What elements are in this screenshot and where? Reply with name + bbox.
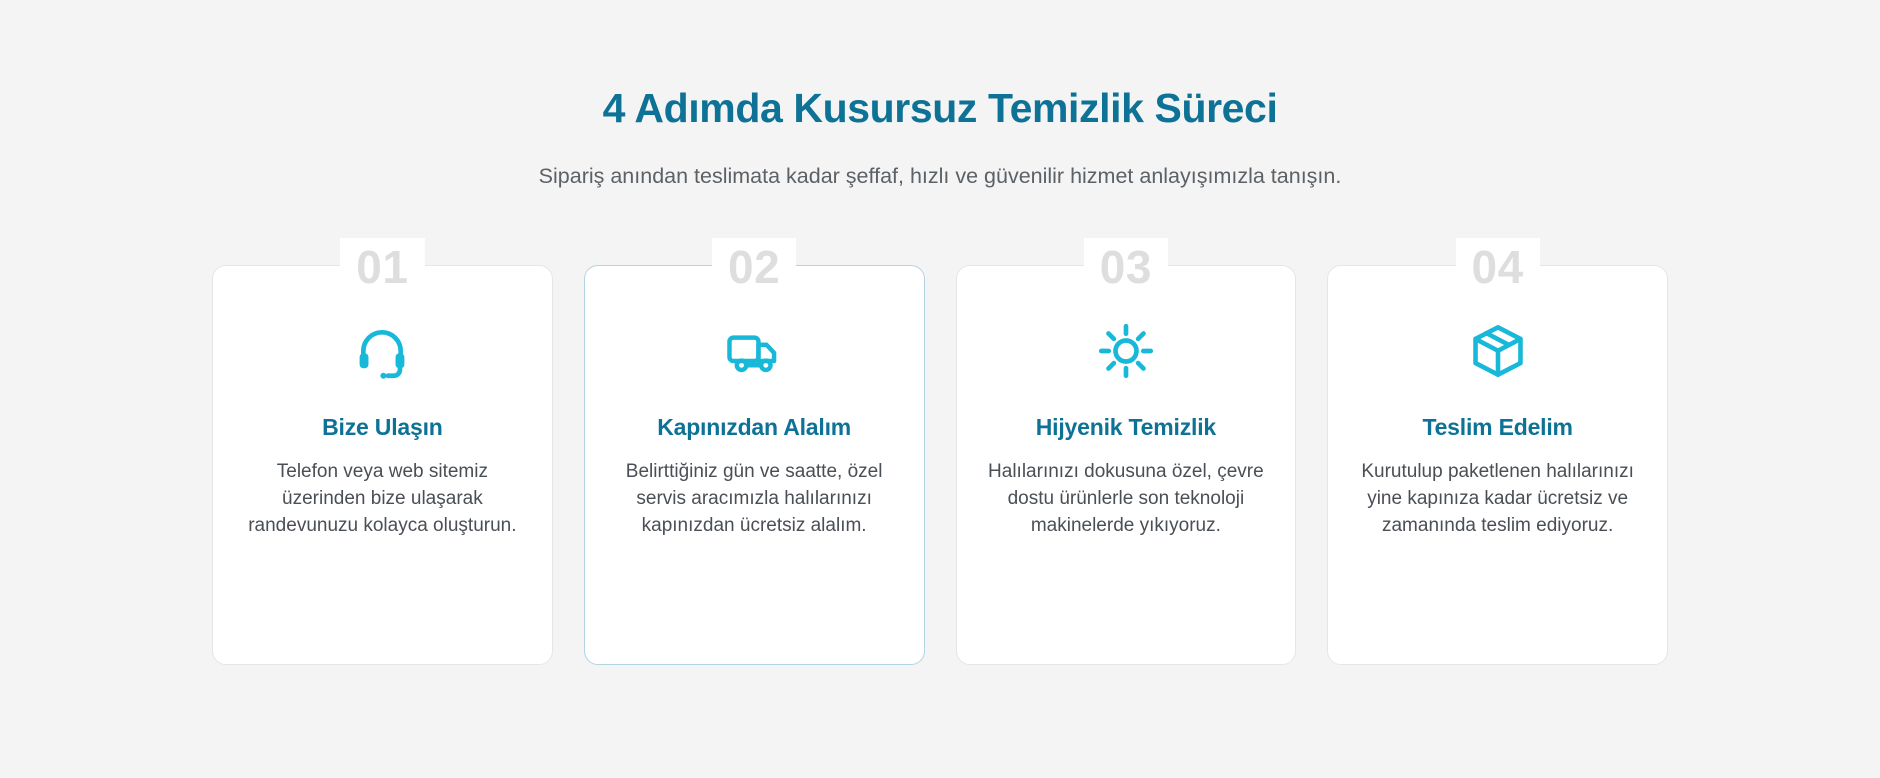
step-card-wrapper-1: 01 Bize Ulaşın Telefon veya web sitemiz … [212,238,553,665]
steps-card-grid: 01 Bize Ulaşın Telefon veya web sitemiz … [100,238,1780,665]
step-card-1[interactable]: Bize Ulaşın Telefon veya web sitemiz üze… [212,265,553,665]
step-card-title-1: Bize Ulaşın [322,413,443,442]
package-box-icon [1469,320,1527,382]
step-card-wrapper-2: 02 Kapınızdan Alalım Belirttiğiniz gün v… [584,238,925,665]
truck-icon [725,320,783,382]
step-card-text-1: Telefon veya web sitemiz üzerinden bize … [241,459,524,540]
step-number-badge-2: 02 [712,238,796,298]
step-card-title-3: Hijyenik Temizlik [1036,413,1216,442]
step-card-text-4: Kurutulup paketlenen halılarınızı yine k… [1356,459,1639,540]
step-card-wrapper-3: 03 Hijyenik Temizlik [956,238,1297,665]
step-card-4[interactable]: Teslim Edelim Kurutulup paketlenen halıl… [1327,265,1668,665]
step-card-2[interactable]: Kapınızdan Alalım Belirttiğiniz gün ve s… [584,265,925,665]
sun-icon [1098,320,1154,382]
step-number-badge-1: 01 [340,238,424,298]
step-number-badge-3: 03 [1084,238,1168,298]
step-card-text-3: Halılarınızı dokusuna özel, çevre dostu … [985,459,1268,540]
step-card-title-4: Teslim Edelim [1422,413,1572,442]
step-card-3[interactable]: Hijyenik Temizlik Halılarınızı dokusuna … [956,265,1297,665]
step-number-badge-4: 04 [1456,238,1540,298]
headset-icon [354,320,410,382]
page-title: 4 Adımda Kusursuz Temizlik Süreci [0,84,1880,132]
section-header: 4 Adımda Kusursuz Temizlik Süreci Sipari… [0,84,1880,191]
section-subtitle: Sipariş anından teslimata kadar şeffaf, … [0,161,1880,191]
step-card-text-2: Belirttiğiniz gün ve saatte, özel servis… [613,459,896,540]
process-steps-section: 4 Adımda Kusursuz Temizlik Süreci Sipari… [0,0,1880,778]
step-card-title-2: Kapınızdan Alalım [657,413,851,442]
step-card-wrapper-4: 04 Teslim Edelim Kurutulup paketlenen ha… [1327,238,1668,665]
